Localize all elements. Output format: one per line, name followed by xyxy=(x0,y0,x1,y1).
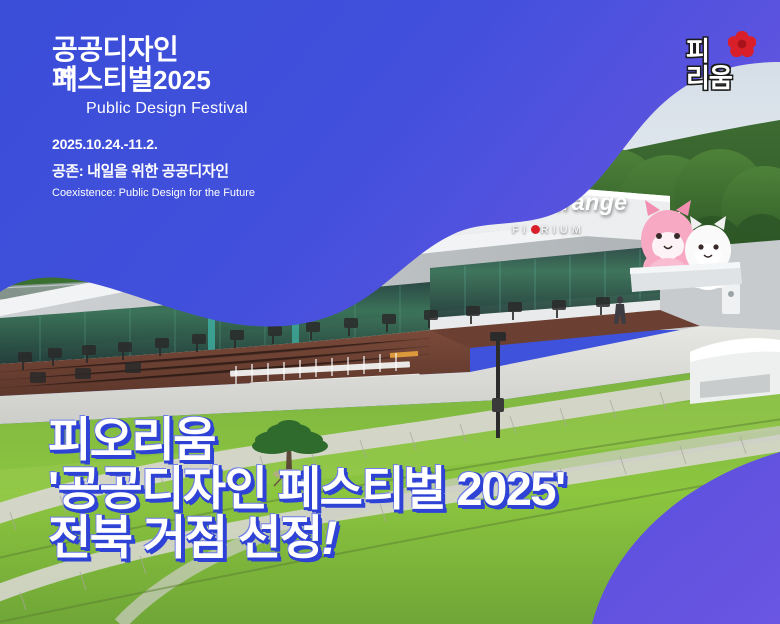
headline: 피오리움 '공공디자인 페스티벌 2025' 전북 거점 선정! xyxy=(48,416,748,563)
festival-year: 2025 xyxy=(153,65,211,95)
flower-icon xyxy=(728,30,756,58)
festival-title-en: Public Design Festival xyxy=(86,100,352,118)
headline-exclamation: ! xyxy=(322,511,336,564)
promo-card: masirange FIRIUM 공공 xyxy=(0,0,780,624)
headline-line-1: 피오리움 xyxy=(48,416,748,465)
festival-title-line2: 페스티벌2025 xyxy=(52,66,352,94)
festival-title-line1: 공공디자인 xyxy=(52,36,352,64)
headline-line-3-text: 전북 거점 선정 xyxy=(48,511,322,564)
fiorium-logo-line2: 리움 xyxy=(684,65,758,92)
festival-date: 2025.10.24.-11.2. xyxy=(52,136,352,152)
fiorium-logo: 피 리움 xyxy=(684,38,758,98)
headline-line-2: '공공디자인 페스티벌 2025' xyxy=(48,465,748,514)
infinity-icon: ∞ xyxy=(54,58,73,88)
festival-theme-en: Coexistence: Public Design for the Futur… xyxy=(52,187,352,199)
festival-lockup: 공공디자인 페스티벌2025 ∞ Public Design Festival … xyxy=(52,36,352,199)
headline-line-3: 전북 거점 선정! xyxy=(48,514,748,563)
festival-title: 공공디자인 페스티벌2025 ∞ xyxy=(52,36,352,94)
festival-theme-ko: 공존: 내일을 위한 공공디자인 xyxy=(52,160,352,181)
